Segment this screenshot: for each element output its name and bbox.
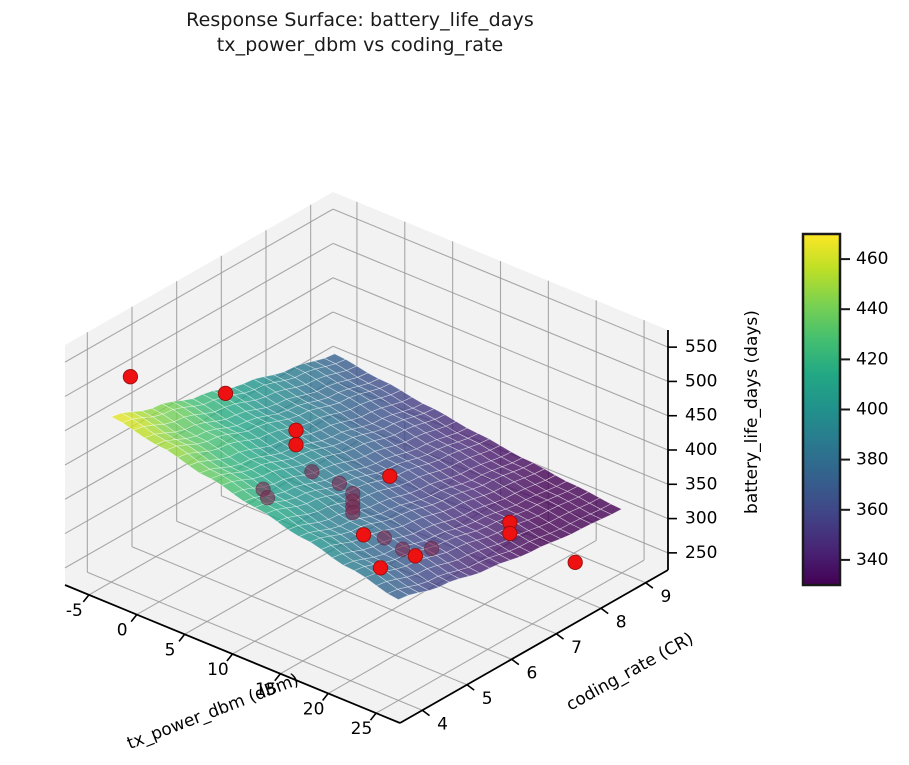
scatter-point[interactable] [289, 423, 303, 437]
axis-tick [512, 659, 519, 664]
axis-tick [556, 634, 563, 639]
scatter-point[interactable] [346, 506, 360, 520]
z-axis-label: battery_life_days (days) [742, 310, 762, 514]
z-tick-label: 500 [685, 371, 717, 391]
colorbar-gradient [803, 234, 840, 585]
axis-tick [422, 710, 429, 715]
y-tick-label: 9 [660, 587, 671, 607]
z-tick-label: 350 [685, 474, 717, 494]
x-tick-label: 0 [117, 621, 128, 641]
y-tick-label: 5 [482, 689, 493, 709]
colorbar-tick-label: 440 [856, 299, 888, 319]
axis-tick [467, 685, 474, 690]
x-tick-label: 5 [165, 640, 176, 660]
z-tick-label: 400 [685, 440, 717, 460]
y-tick-label: 6 [526, 664, 537, 684]
scatter-point[interactable] [218, 386, 232, 400]
z-tick-label: 550 [685, 337, 717, 357]
colorbar-tick-label: 340 [856, 550, 888, 570]
y-tick-label: 8 [616, 613, 627, 633]
colorbar[interactable]: 340360380400420440460 [803, 234, 888, 585]
colorbar-tick-label: 420 [856, 349, 888, 369]
z-tick-label: 450 [685, 406, 717, 426]
scatter-point[interactable] [305, 465, 319, 479]
y-axis-label: coding_rate (CR) [563, 629, 697, 715]
surface-plot-3d: -50510152025456789250300350400450500550t… [0, 0, 909, 765]
scatter-point[interactable] [332, 476, 346, 490]
scatter-point[interactable] [568, 555, 582, 569]
axis-tick [646, 583, 653, 588]
axis-tick [83, 595, 89, 602]
axis-tick [601, 608, 608, 613]
scatter-point[interactable] [123, 370, 137, 384]
colorbar-ticks: 340360380400420440460 [840, 249, 888, 570]
axis-tick [131, 615, 137, 622]
colorbar-tick-label: 460 [856, 249, 888, 269]
colorbar-tick-label: 400 [856, 400, 888, 420]
scatter-point[interactable] [373, 561, 387, 575]
scatter-point[interactable] [383, 469, 397, 483]
x-tick-label: 20 [303, 700, 325, 720]
axis-tick [179, 634, 185, 641]
scatter-point[interactable] [408, 549, 422, 563]
scatter-point[interactable] [424, 541, 438, 555]
x-axis-label: tx_power_dbm (dBm) [124, 670, 301, 754]
y-tick-label: 7 [571, 638, 582, 658]
scatter-point[interactable] [503, 526, 517, 540]
scatter-point[interactable] [289, 438, 303, 452]
z-tick-label: 300 [685, 509, 717, 529]
y-tick-label: 4 [437, 715, 448, 735]
colorbar-tick-label: 380 [856, 450, 888, 470]
x-tick-label: 25 [351, 719, 373, 739]
colorbar-tick-label: 360 [856, 500, 888, 520]
figure: Response Surface: battery_life_days tx_p… [0, 0, 909, 765]
x-tick-label: -5 [66, 601, 83, 621]
z-tick-label: 250 [685, 543, 717, 563]
x-tick-label: 10 [207, 660, 229, 680]
scatter-point[interactable] [395, 542, 409, 556]
scatter-point[interactable] [260, 491, 274, 505]
scatter-point[interactable] [377, 531, 391, 545]
scatter-point[interactable] [356, 528, 370, 542]
